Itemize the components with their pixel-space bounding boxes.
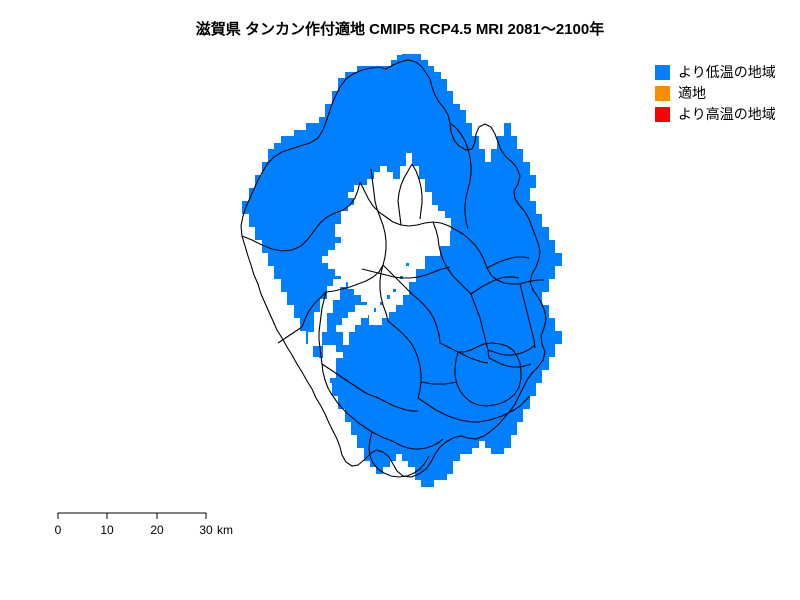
- scale-tick-30: 30: [199, 523, 213, 537]
- lake-islet-2: [336, 345, 343, 352]
- red-square-swatch: [655, 107, 670, 122]
- orange-square-swatch: [655, 86, 670, 101]
- legend-item-warmer[interactable]: より高温の地域: [655, 104, 800, 125]
- legend-label-warmer: より高温の地域: [678, 107, 776, 122]
- lake-notch-22: [333, 279, 346, 287]
- map-canvas[interactable]: [180, 50, 570, 515]
- legend-item-cooler[interactable]: より低温の地域: [655, 62, 800, 83]
- scale-tick-10: 10: [100, 523, 114, 537]
- legend-label-cooler: より低温の地域: [678, 65, 776, 80]
- lake-islet-1: [330, 332, 343, 345]
- page-title: 滋賀県 タンカン作付適地 CMIP5 RCP4.5 MRI 2081〜2100年: [0, 21, 800, 39]
- legend: より低温の地域 適地 より高温の地域: [655, 62, 800, 125]
- lake-notch-21: [327, 286, 340, 300]
- scale-bar: 0 10 20 30 km: [46, 505, 286, 545]
- blue-square-swatch: [655, 65, 670, 80]
- legend-item-suitable[interactable]: 適地: [655, 83, 800, 104]
- lake-notch-16: [430, 220, 450, 246]
- legend-label-suitable: 適地: [678, 86, 706, 101]
- scale-tick-20: 20: [150, 523, 164, 537]
- scale-tick-0: 0: [55, 523, 62, 537]
- scale-unit-label: km: [217, 523, 233, 537]
- map-figure: 滋賀県 タンカン作付適地 CMIP5 RCP4.5 MRI 2081〜2100年: [0, 0, 800, 600]
- scale-bar-line: [58, 513, 206, 519]
